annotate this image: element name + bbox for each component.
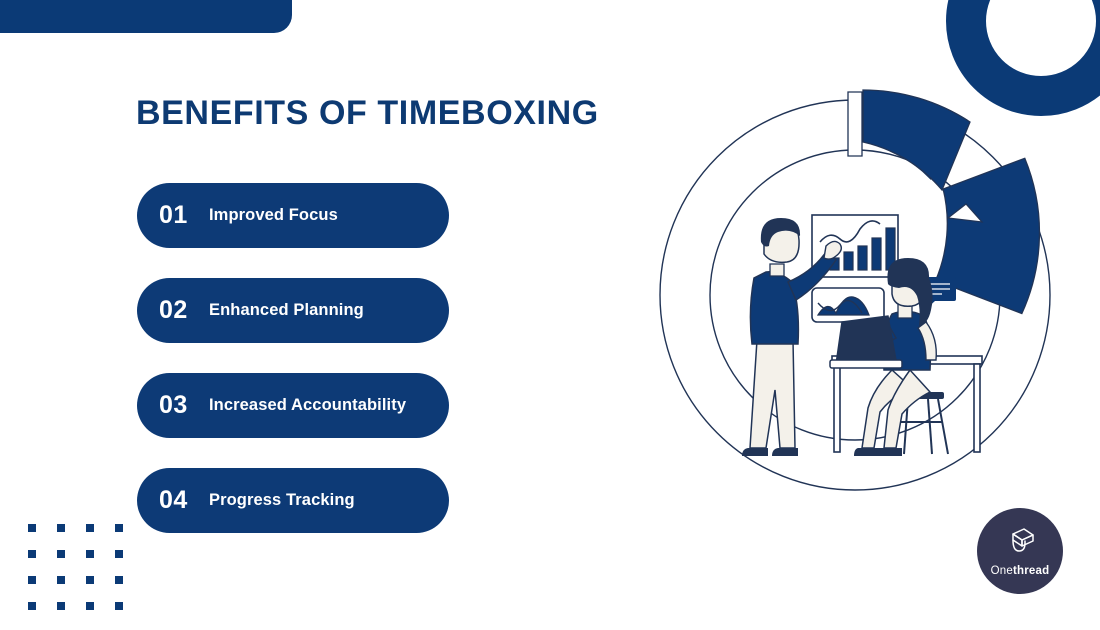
top-left-bar-decoration bbox=[0, 0, 292, 33]
onethread-wordmark: Onethread bbox=[991, 566, 1050, 578]
benefit-number: 03 bbox=[159, 391, 209, 420]
benefit-number: 01 bbox=[159, 201, 209, 230]
slide-canvas: BENEFITS OF TIMEBOXING 01 Improved Focus… bbox=[0, 0, 1100, 630]
grid-dot bbox=[57, 602, 65, 610]
benefits-list: 01 Improved Focus 02 Enhanced Planning 0… bbox=[137, 183, 449, 563]
grid-dot bbox=[115, 602, 123, 610]
grid-dot bbox=[115, 550, 123, 558]
grid-dot bbox=[86, 550, 94, 558]
grid-dot bbox=[28, 550, 36, 558]
pie-wedge-outline-notch bbox=[848, 92, 862, 156]
onethread-3d-spool-icon bbox=[1003, 525, 1037, 564]
laptop-screen bbox=[836, 316, 896, 364]
benefit-label: Progress Tracking bbox=[209, 491, 355, 510]
grid-dot bbox=[115, 576, 123, 584]
grid-dot bbox=[86, 524, 94, 532]
grid-dot bbox=[57, 550, 65, 558]
team-analyzing-pie-chart-illustration bbox=[630, 70, 1100, 520]
logo-text-light: One bbox=[991, 565, 1013, 577]
standing-man-pointing bbox=[742, 218, 841, 456]
page-title: BENEFITS OF TIMEBOXING bbox=[136, 94, 599, 133]
grid-dot bbox=[57, 576, 65, 584]
grid-dot bbox=[28, 524, 36, 532]
benefit-item-03[interactable]: 03 Increased Accountability bbox=[137, 373, 449, 438]
benefit-label: Increased Accountability bbox=[209, 396, 406, 415]
logo-text-bold: thread bbox=[1013, 565, 1049, 577]
grid-dot bbox=[57, 524, 65, 532]
grid-dot bbox=[115, 524, 123, 532]
benefit-number: 02 bbox=[159, 296, 209, 325]
onethread-logo[interactable]: Onethread bbox=[977, 508, 1063, 594]
benefit-item-02[interactable]: 02 Enhanced Planning bbox=[137, 278, 449, 343]
grid-dot bbox=[86, 576, 94, 584]
grid-dot bbox=[28, 576, 36, 584]
bottom-left-dot-grid-decoration bbox=[28, 524, 123, 610]
grid-dot bbox=[28, 602, 36, 610]
benefit-number: 04 bbox=[159, 486, 209, 515]
grid-dot bbox=[86, 602, 94, 610]
benefit-item-01[interactable]: 01 Improved Focus bbox=[137, 183, 449, 248]
benefit-item-04[interactable]: 04 Progress Tracking bbox=[137, 468, 449, 533]
benefit-label: Improved Focus bbox=[209, 206, 338, 225]
laptop-base bbox=[830, 360, 902, 368]
benefit-label: Enhanced Planning bbox=[209, 301, 364, 320]
